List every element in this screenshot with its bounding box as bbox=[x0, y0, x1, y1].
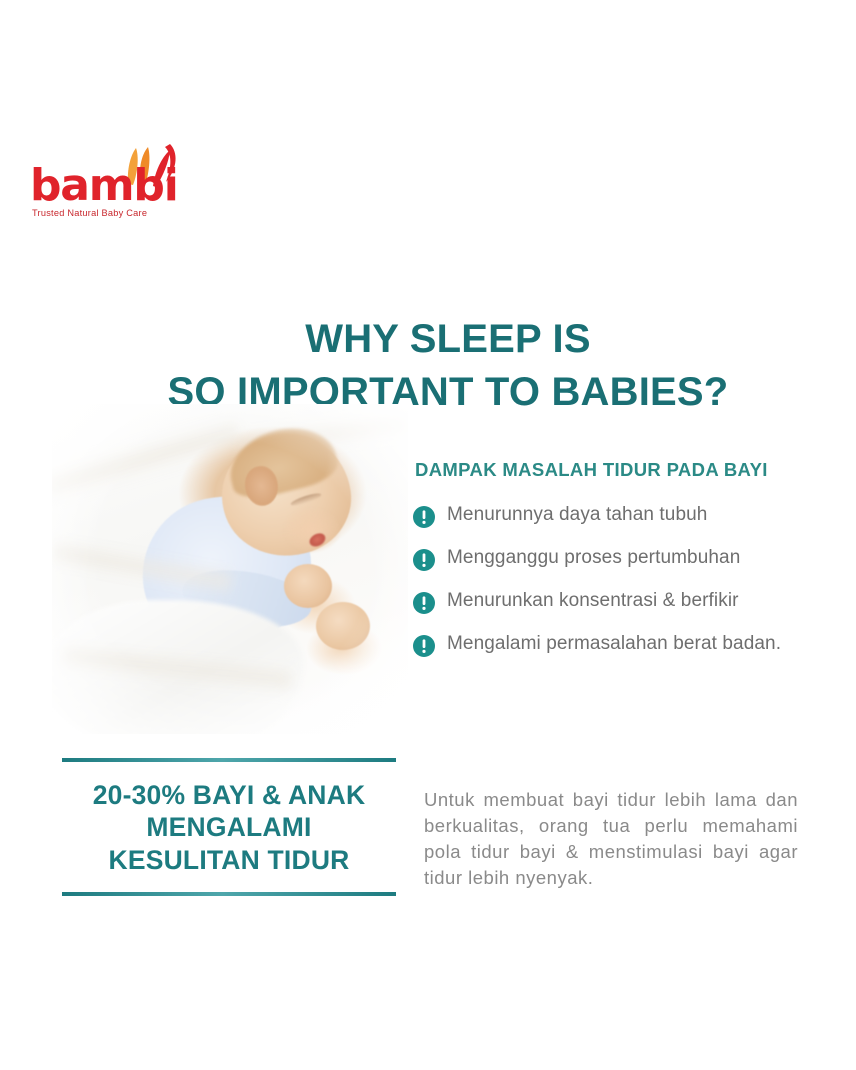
list-item: Mengganggu proses pertumbuhan bbox=[412, 546, 832, 572]
statistic-callout: 20-30% BAYI & ANAK MENGALAMI KESULITAN T… bbox=[62, 758, 396, 896]
body-paragraph: Untuk membuat bayi tidur lebih lama dan … bbox=[424, 787, 798, 892]
exclamation-circle-icon bbox=[412, 505, 436, 529]
list-item: Mengalami permasalahan berat badan. bbox=[412, 632, 832, 658]
exclamation-circle-icon bbox=[412, 591, 436, 615]
statistic-line-2: MENGALAMI bbox=[62, 811, 396, 843]
statistic-line-1: 20-30% BAYI & ANAK bbox=[62, 779, 396, 811]
brand-tagline: Trusted Natural Baby Care bbox=[32, 208, 147, 218]
list-item: Menurunnya daya tahan tubuh bbox=[412, 503, 832, 529]
page-title: WHY SLEEP IS SO IMPORTANT TO BABIES? bbox=[148, 313, 748, 419]
brand-wordmark: bambi bbox=[30, 164, 178, 208]
bedding-fold bbox=[52, 417, 242, 501]
list-item: Menurunkan konsentrasi & berfikir bbox=[412, 589, 832, 615]
headline-line-1: WHY SLEEP IS bbox=[148, 313, 748, 366]
statistic-line-3: KESULITAN TIDUR bbox=[62, 844, 396, 876]
brand-logo: bambi Trusted Natural Baby Care bbox=[30, 142, 210, 227]
baby-hand bbox=[316, 602, 370, 650]
list-item-label: Menurunkan konsentrasi & berfikir bbox=[447, 589, 739, 612]
statistic-text: 20-30% BAYI & ANAK MENGALAMI KESULITAN T… bbox=[62, 762, 396, 892]
exclamation-circle-icon bbox=[412, 548, 436, 572]
impact-heading: DAMPAK MASALAH TIDUR PADA BAYI bbox=[415, 459, 768, 481]
impact-list: Menurunnya daya tahan tubuh Mengganggu p… bbox=[412, 503, 832, 658]
exclamation-circle-icon bbox=[412, 634, 436, 658]
poster-canvas: bambi Trusted Natural Baby Care WHY SLEE… bbox=[0, 0, 856, 1070]
photo-background bbox=[52, 404, 408, 734]
list-item-label: Mengganggu proses pertumbuhan bbox=[447, 546, 740, 569]
sleeping-baby-photo bbox=[52, 404, 408, 734]
list-item-label: Mengalami permasalahan berat badan. bbox=[447, 632, 781, 655]
list-item-label: Menurunnya daya tahan tubuh bbox=[447, 503, 707, 526]
baby-hand bbox=[284, 564, 332, 608]
divider-bottom bbox=[62, 892, 396, 896]
